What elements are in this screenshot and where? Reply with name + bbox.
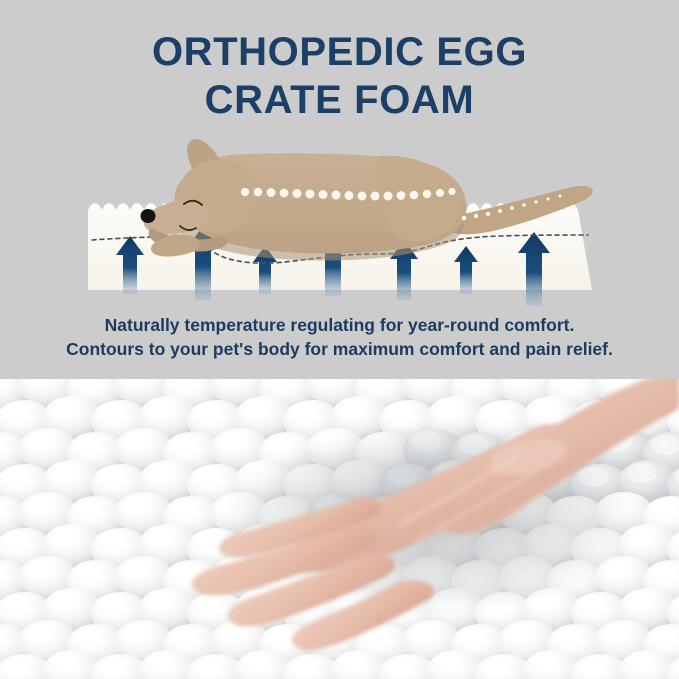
product-infographic: ORTHOPEDIC EGG CRATE FOAM xyxy=(0,0,679,679)
feature-caption-line-1: Naturally temperature regulating for yea… xyxy=(0,313,679,337)
foam-overlay-front xyxy=(88,254,592,290)
page-title-line-2: CRATE FOAM xyxy=(0,76,679,124)
feature-caption-line-2: Contours to your pet's body for maximum … xyxy=(0,337,679,361)
foam-photo-panel xyxy=(0,379,679,679)
page-title: ORTHOPEDIC EGG CRATE FOAM xyxy=(0,28,679,124)
dog-foam-illustration-svg xyxy=(0,128,679,308)
foam-photo-svg xyxy=(0,379,679,679)
dog-nose xyxy=(141,209,156,223)
dog-foam-illustration xyxy=(0,128,679,308)
top-info-panel: ORTHOPEDIC EGG CRATE FOAM xyxy=(0,0,679,379)
page-title-line-1: ORTHOPEDIC EGG xyxy=(0,28,679,76)
feature-caption: Naturally temperature regulating for yea… xyxy=(0,313,679,361)
